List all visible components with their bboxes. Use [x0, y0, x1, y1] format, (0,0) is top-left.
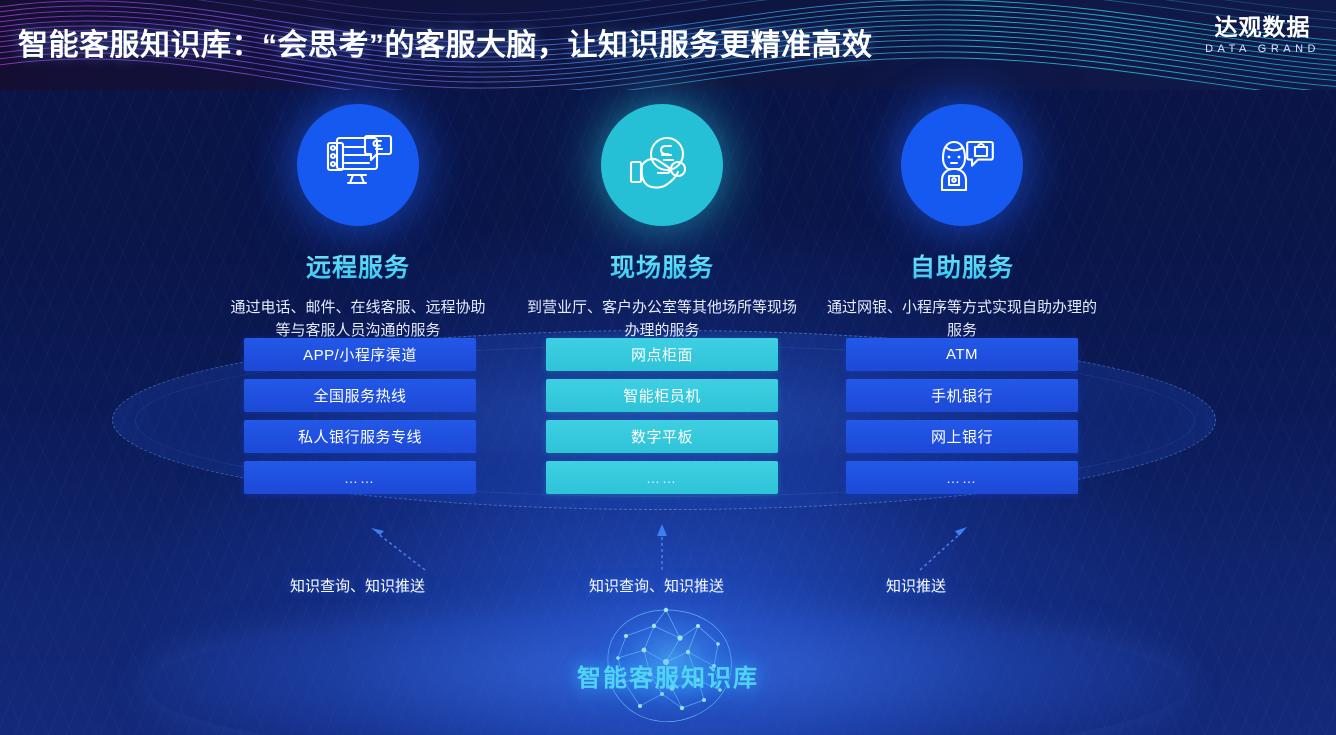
flow-label: 知识推送 — [886, 575, 946, 596]
slide-header: 智能客服知识库：“会思考”的客服大脑，让知识服务更精准高效 达观数据 DATA … — [0, 0, 1336, 90]
icon-circle-wrapper — [502, 104, 822, 234]
channel-chip-more[interactable]: …… — [546, 461, 778, 494]
flow-label: 知识查询、知识推送 — [589, 575, 724, 596]
channel-chip[interactable]: ATM — [846, 338, 1078, 371]
flow-label: 知识查询、知识推送 — [290, 575, 425, 596]
channel-chip[interactable]: 网上银行 — [846, 420, 1078, 453]
channel-list-onsite: 网点柜面 智能柜员机 数字平板 …… — [546, 338, 778, 502]
page-title: 智能客服知识库：“会思考”的客服大脑，让知识服务更精准高效 — [18, 20, 873, 64]
icon-circle-wrapper — [198, 104, 518, 234]
monitor-chat-icon — [297, 104, 419, 226]
service-title: 远程服务 — [198, 248, 518, 284]
service-description: 通过电话、邮件、在线客服、远程协助等与客服人员沟通的服务 — [198, 296, 518, 343]
service-column-remote: 远程服务 通过电话、邮件、在线客服、远程协助等与客服人员沟通的服务 — [198, 104, 518, 343]
icon-circle-wrapper — [802, 104, 1122, 234]
channel-chip[interactable]: 手机银行 — [846, 379, 1078, 412]
service-column-onsite: 现场服务 到营业厅、客户办公室等其他场所等现场办理的服务 — [502, 104, 822, 343]
channel-chip[interactable]: 私人银行服务专线 — [244, 420, 476, 453]
knowledge-base-label: 智能客服知识库 — [0, 658, 1336, 693]
slide-canvas: 智能客服知识库：“会思考”的客服大脑，让知识服务更精准高效 达观数据 DATA … — [0, 0, 1336, 735]
service-title: 自助服务 — [802, 248, 1122, 284]
channel-list-selfservice: ATM 手机银行 网上银行 …… — [846, 338, 1078, 502]
service-column-selfservice: 自助服务 通过网银、小程序等方式实现自助办理的服务 — [802, 104, 1122, 343]
service-description: 通过网银、小程序等方式实现自助办理的服务 — [802, 296, 1122, 343]
channel-chip-more[interactable]: …… — [846, 461, 1078, 494]
channel-list-remote: APP/小程序渠道 全国服务热线 私人银行服务专线 …… — [244, 338, 476, 502]
person-laptop-secure-icon — [901, 104, 1023, 226]
brand-logo: 达观数据 DATA GRAND — [1205, 14, 1320, 55]
service-title: 现场服务 — [502, 248, 822, 284]
logo-chinese-name: 达观数据 — [1205, 14, 1320, 40]
channel-chip[interactable]: 智能柜员机 — [546, 379, 778, 412]
channel-chip-more[interactable]: …… — [244, 461, 476, 494]
service-description: 到营业厅、客户办公室等其他场所等现场办理的服务 — [502, 296, 822, 343]
channel-chip[interactable]: 全国服务热线 — [244, 379, 476, 412]
logo-english-name: DATA GRAND — [1205, 43, 1320, 55]
hand-coin-icon — [601, 104, 723, 226]
channel-chip[interactable]: 网点柜面 — [546, 338, 778, 371]
channel-chip[interactable]: APP/小程序渠道 — [244, 338, 476, 371]
channel-chip[interactable]: 数字平板 — [546, 420, 778, 453]
